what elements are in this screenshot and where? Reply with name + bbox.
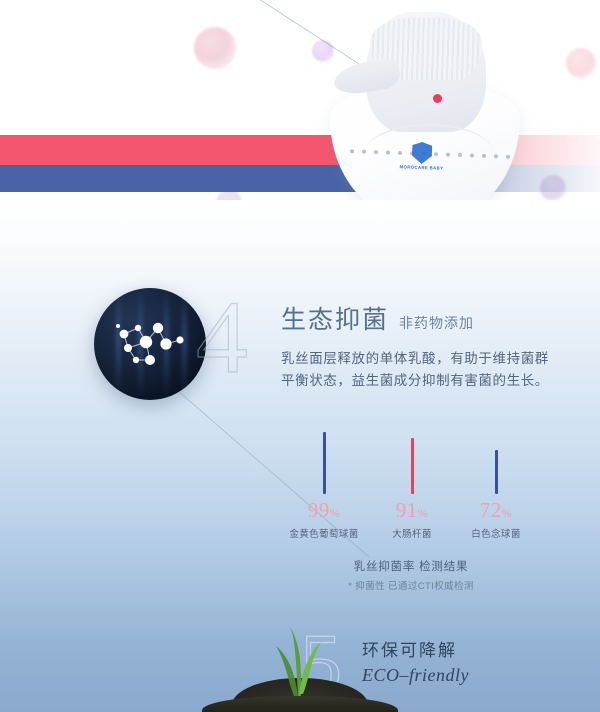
bacteria-molecule-icon [94,288,206,400]
stat-percent: 72% [453,500,539,521]
stat-percent: 91% [369,500,455,521]
shield-icon [412,142,433,165]
antibacterial-bar-chart: 99% 金黄色葡萄球菌 91% 大肠杆菌 72% 白色念球菌 [281,430,541,540]
stat-percent: 99% [281,500,367,521]
section-4-subtitle: 非药物添加 [399,313,474,333]
sprout-in-soil-photo [268,624,328,696]
hero-banner: MOROCARE BABY [0,0,600,200]
stat-bar [495,450,498,494]
stat-bar [323,432,326,494]
section-5-title-en: ECO–friendly [362,663,469,687]
stat-label: 白色念球菌 [453,526,539,540]
diaper-accent-stripes [408,180,488,200]
section-4-body-text: 乳丝面层释放的单体乳酸，有助于维持菌群平衡状态，益生菌成分抑制有害菌的生长。 [281,348,551,392]
molecule-graphic [94,288,206,400]
product-detail-page: MOROCARE BABY [0,0,600,712]
section-5-title-cn: 环保可降解 [362,640,469,663]
chart-footnote-note: * 抑菌性 已通过CTI权威检测 [281,578,541,592]
stat-item: 72% 白色念球菌 [453,450,539,540]
section-4-heading: 生态抑菌 非药物添加 [281,300,474,336]
stat-item: 91% 大肠杆菌 [369,438,455,540]
stat-label: 金黄色葡萄球菌 [281,526,367,540]
section-4-numeral: 4 [196,286,248,390]
bokeh-pink-large-icon [194,27,236,69]
stat-label: 大肠杆菌 [369,526,455,540]
section-5-heading: 环保可降解 ECO–friendly [362,640,469,687]
diaper-brand-logo: MOROCARE BABY [400,141,445,171]
chart-footnote-title: 乳丝抑菌率 检测结果 [281,558,541,574]
stat-bar [411,438,414,494]
stat-item: 99% 金黄色葡萄球菌 [281,432,367,540]
section-4-title: 生态抑菌 [281,300,389,336]
bokeh-pink-right-icon [566,48,596,78]
product-highlight-dot [433,94,442,103]
diaper-product-photo: MOROCARE BABY [312,4,552,200]
